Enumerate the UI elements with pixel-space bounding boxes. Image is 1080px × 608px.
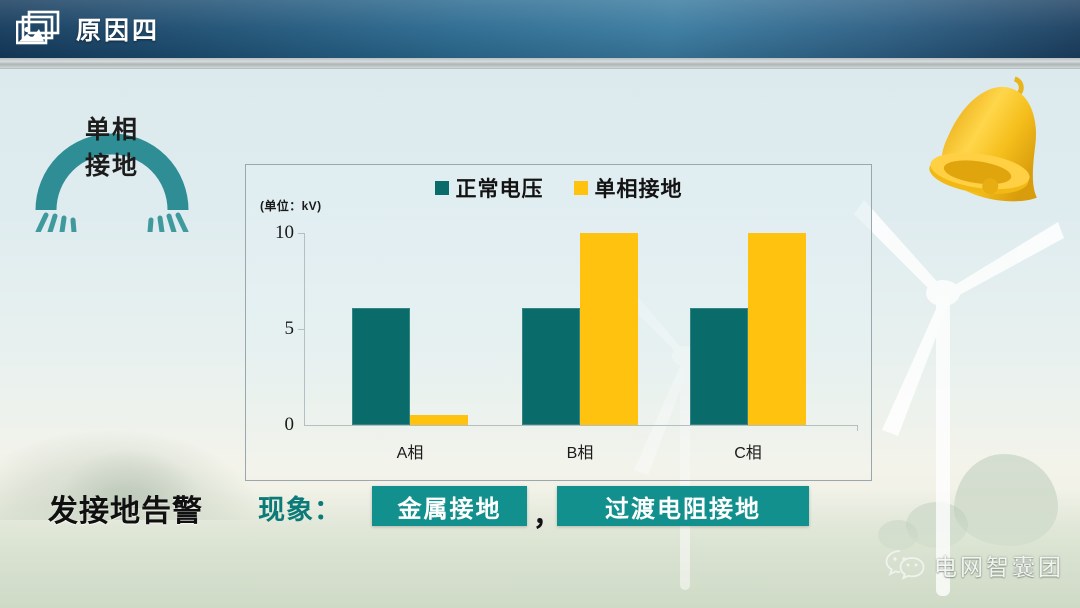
bar-single-phase-ground-b bbox=[580, 233, 638, 425]
caption-headline: 发接地告警 bbox=[48, 486, 203, 530]
tag-metallic-grounding[interactable]: 金属接地 bbox=[372, 486, 527, 526]
tag-transition-resistance-grounding[interactable]: 过渡电阻接地 bbox=[557, 486, 809, 526]
legend-label: 单相接地 bbox=[595, 173, 683, 203]
chart-legend: 正常电压 单相接地 bbox=[246, 173, 871, 203]
badge-line-1: 单相 bbox=[22, 112, 202, 148]
bar-normal-voltage-a bbox=[352, 308, 410, 425]
bottom-caption-row: 发接地告警 现象： 金属接地 ， 过渡电阻接地 bbox=[0, 486, 1080, 548]
title-bar: 原因四 bbox=[0, 0, 1080, 58]
watermark-text: 电网智囊团 bbox=[934, 548, 1064, 582]
legend-item-single-phase-ground: 单相接地 bbox=[574, 173, 683, 203]
x-axis-end-tick bbox=[857, 425, 858, 431]
x-axis bbox=[304, 425, 857, 426]
title-bar-gloss bbox=[0, 0, 1080, 58]
y-axis bbox=[304, 233, 305, 425]
legend-item-normal-voltage: 正常电压 bbox=[435, 173, 544, 203]
x-tick-label-a: A相 bbox=[397, 439, 424, 463]
legend-swatch-teal bbox=[435, 181, 449, 195]
page-title: 原因四 bbox=[76, 11, 160, 47]
legend-swatch-amber bbox=[574, 181, 588, 195]
bar-normal-voltage-b bbox=[522, 308, 580, 425]
y-tick-label-10: 10 bbox=[275, 222, 294, 244]
y-tick-5 bbox=[298, 329, 304, 330]
bar-normal-voltage-c bbox=[690, 308, 748, 425]
x-tick-label-c: C相 bbox=[734, 439, 762, 463]
bar-single-phase-ground-c bbox=[748, 233, 806, 425]
phenomenon-label: 现象： bbox=[258, 488, 342, 527]
wechat-icon bbox=[885, 548, 925, 582]
topic-badge: 单相 接地 bbox=[22, 82, 202, 232]
bar-chart-panel: 正常电压 单相接地 (单位：kV) 10 5 0 A相 B bbox=[245, 164, 872, 481]
badge-line-2: 接地 bbox=[22, 148, 202, 184]
y-tick-label-5: 5 bbox=[285, 318, 295, 340]
watermark: 电网智囊团 bbox=[885, 548, 1064, 582]
header-divider-strip bbox=[0, 58, 1080, 69]
legend-label: 正常电压 bbox=[456, 173, 544, 203]
chart-plot-area: 10 5 0 A相 B相 C相 bbox=[304, 233, 849, 425]
chart-unit-label: (单位：kV) bbox=[260, 197, 321, 214]
badge-text: 单相 接地 bbox=[22, 112, 202, 184]
slide-canvas: 原因四 单相 接地 bbox=[0, 0, 1080, 608]
y-tick-10 bbox=[298, 233, 304, 234]
x-tick-label-b: B相 bbox=[567, 439, 594, 463]
photo-stack-icon bbox=[16, 10, 62, 48]
y-tick-label-0: 0 bbox=[285, 414, 295, 436]
bar-single-phase-ground-a bbox=[410, 415, 468, 425]
